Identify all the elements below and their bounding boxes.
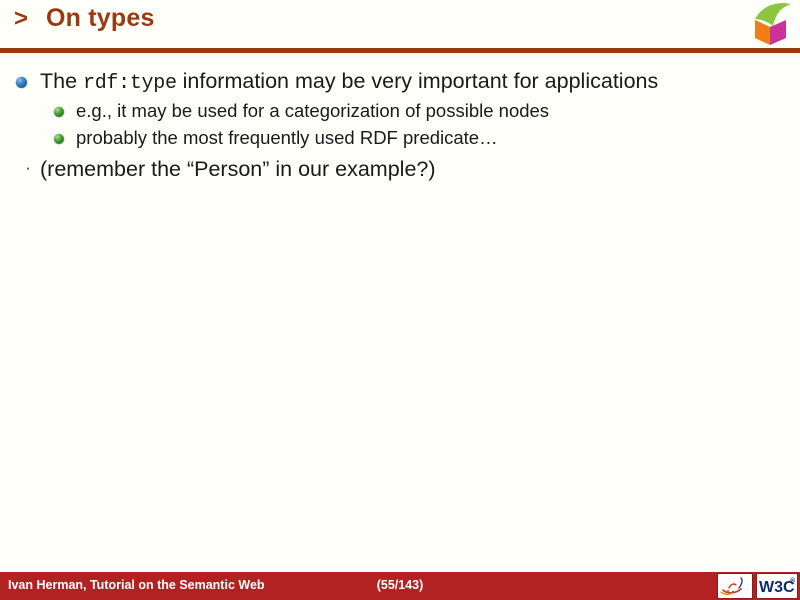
list-item-label: probably the most frequently used RDF pr…	[76, 126, 498, 150]
list-item: probably the most frequently used RDF pr…	[0, 126, 800, 150]
slide-header: > On types	[0, 0, 800, 50]
bullet-text-part: information may be very important for ap…	[177, 69, 659, 93]
header-divider	[0, 48, 800, 53]
footer-logos: W3C ®	[717, 572, 798, 600]
list-item-label: The rdf:type information may be very imp…	[40, 68, 658, 97]
bullet-green-sphere-icon	[54, 126, 76, 144]
page-title: > On types	[14, 6, 155, 31]
w3c-logo: W3C ®	[756, 573, 798, 599]
slide-body: The rdf:type information may be very imp…	[0, 68, 800, 183]
list-item: The rdf:type information may be very imp…	[0, 68, 800, 97]
slide-footer: Ivan Herman, Tutorial on the Semantic We…	[0, 572, 800, 600]
svg-text:®: ®	[790, 577, 796, 585]
semantic-web-cube-logo	[746, 2, 796, 48]
bullet-text-part: The	[40, 69, 83, 93]
footer-page-number: (55/143)	[0, 578, 800, 592]
page-title-text: On types	[46, 6, 155, 31]
list-item-label: e.g., it may be used for a categorizatio…	[76, 99, 549, 123]
title-marker-icon: >	[14, 7, 28, 31]
list-item-label: (remember the “Person” in our example?)	[40, 156, 436, 184]
bullet-blue-sphere-icon	[16, 68, 40, 88]
bullet-dot-icon: ·	[16, 156, 40, 176]
slide: > On types The rdf:type information may …	[0, 0, 800, 600]
bullet-green-sphere-icon	[54, 99, 76, 117]
rdf-type-code: rdf:type	[83, 72, 177, 95]
list-item: · (remember the “Person” in our example?…	[0, 156, 800, 184]
list-item: e.g., it may be used for a categorizatio…	[0, 99, 800, 123]
arabic-calligraphy-logo	[717, 573, 753, 599]
